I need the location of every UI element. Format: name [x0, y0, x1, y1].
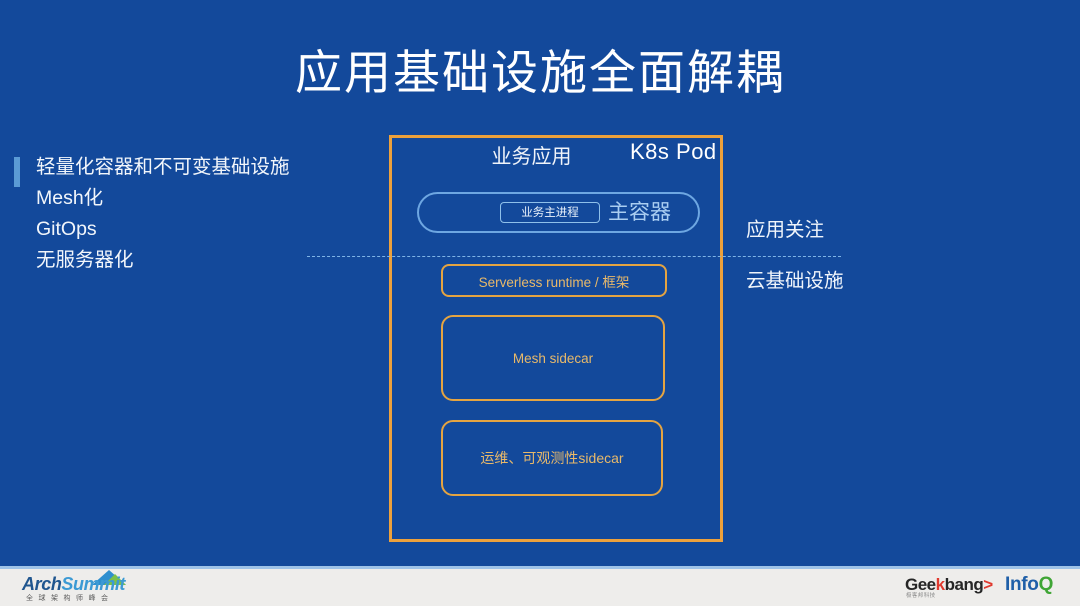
slide-canvas: 应用基础设施全面解耦 轻量化容器和不可变基础设施 Mesh化 GitOps 无服…: [0, 0, 1080, 606]
infoq-q-text: Q: [1039, 574, 1053, 595]
business-main-process-label: 业务主进程: [521, 206, 579, 220]
geekbang-text-1: Gee: [905, 575, 936, 594]
geekbang-subtitle: 极客邦科技: [906, 593, 936, 600]
infoq-logo: InfoQ: [1005, 574, 1053, 596]
archsummit-subtitle: 全球架构师峰会: [26, 594, 114, 603]
accent-bar: [14, 157, 20, 187]
serverless-runtime-box: Serverless runtime / 框架: [441, 264, 667, 297]
infoq-info-text: Info: [1005, 574, 1039, 595]
geekbang-logo: Geekbang> 极客邦科技: [905, 575, 993, 594]
archsummit-wordmark: ArchSummit: [22, 574, 125, 594]
page-title: 应用基础设施全面解耦: [0, 44, 1080, 104]
left-line-4: 无服务器化: [36, 245, 341, 276]
left-line-2: Mesh化: [36, 183, 341, 214]
geekbang-text-k: k: [936, 575, 945, 594]
dashed-divider: [307, 256, 841, 257]
cloud-infrastructure-label: 云基础设施: [746, 268, 844, 294]
mesh-sidecar-box: Mesh sidecar: [441, 315, 665, 401]
left-text-lines: 轻量化容器和不可变基础设施 Mesh化 GitOps 无服务器化: [36, 152, 341, 276]
business-main-process-box: 业务主进程: [500, 202, 600, 223]
chevron-right-icon: >: [983, 575, 992, 594]
archsummit-arch-text: Arch: [22, 574, 61, 594]
geekbang-wordmark: Geekbang>: [905, 575, 993, 594]
left-line-1: 轻量化容器和不可变基础设施: [36, 152, 341, 183]
archsummit-logo: ArchSummit 全球架构师峰会: [22, 572, 192, 604]
main-container-label: 主容器: [608, 199, 671, 226]
geekbang-text-3: bang: [945, 575, 984, 594]
application-concern-label: 应用关注: [746, 217, 824, 243]
k8s-pod-label: K8s Pod: [630, 138, 717, 166]
archsummit-summit-text: Summit: [61, 574, 125, 594]
left-line-3: GitOps: [36, 214, 341, 245]
observability-sidecar-box: 运维、可观测性sidecar: [441, 420, 663, 496]
